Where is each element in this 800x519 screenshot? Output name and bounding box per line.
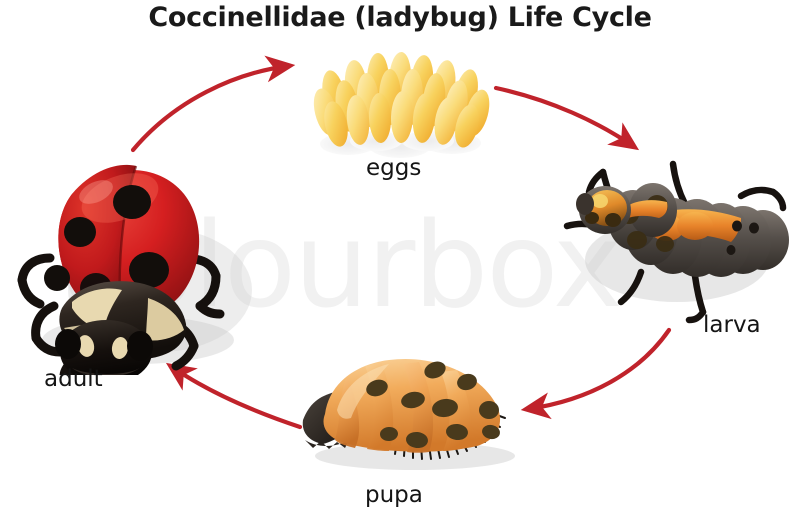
arrow-larva-to-pupa — [528, 330, 669, 409]
pupa-illustration — [285, 348, 535, 483]
eggs-illustration — [300, 48, 510, 158]
life-cycle-diagram: Coccinellidae (ladybug) Life Cycle colou… — [0, 0, 800, 519]
arrow-eggs-to-larva — [496, 88, 633, 146]
stage-label-pupa: pupa — [365, 482, 423, 508]
arrow-adult-to-eggs — [133, 66, 288, 150]
stage-label-adult: adult — [44, 366, 103, 392]
adult-ladybug-illustration — [10, 140, 260, 375]
stage-label-eggs: eggs — [366, 155, 421, 181]
stage-label-larva: larva — [703, 312, 761, 338]
larva-illustration — [545, 148, 795, 328]
arrow-pupa-to-adult — [172, 367, 300, 427]
